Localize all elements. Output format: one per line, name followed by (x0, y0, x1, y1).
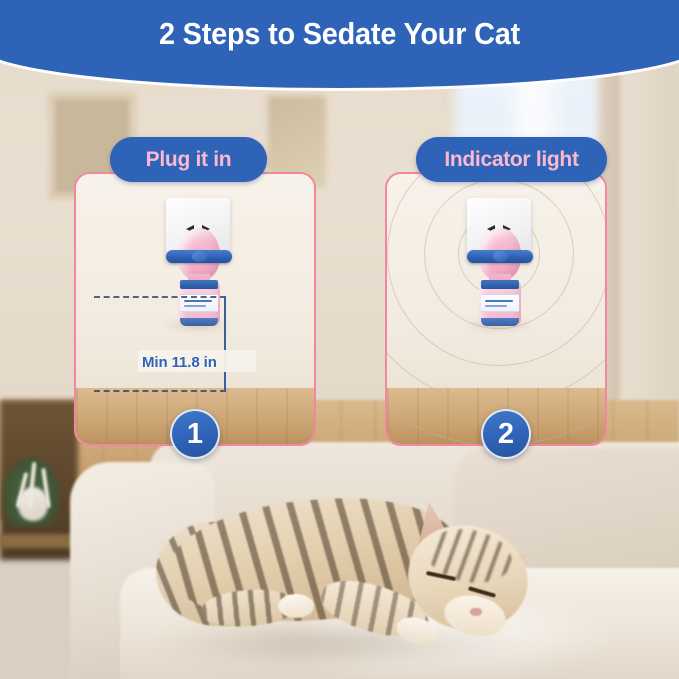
step-2-number: 2 (498, 420, 514, 449)
refill-bottle-label (481, 294, 519, 312)
step-2-title-pill: Indicator light (416, 137, 607, 182)
step-card-2-scene (387, 174, 605, 444)
step-1-number-badge: 1 (170, 409, 220, 459)
step-2-title-label: Indicator light (444, 148, 578, 172)
cat-nose (470, 608, 482, 616)
sleeping-cat (150, 478, 550, 663)
label-text-line (184, 305, 206, 307)
diffuser-blue-band (166, 250, 232, 263)
header-banner: 2 Steps to Sedate Your Cat (0, 0, 679, 88)
page-title: 2 Steps to Sedate Your Cat (5, 16, 674, 52)
step-1-number: 1 (187, 420, 203, 449)
label-text-line (184, 300, 212, 302)
plug-in-diffuser-device (453, 198, 545, 310)
side-shelf-top (0, 534, 80, 548)
measurement-label: Min 11.8 in (142, 354, 217, 371)
diffuser-blue-band (467, 250, 533, 263)
refill-bottle-cap (180, 280, 218, 289)
step-card-1-scene: Min 11.8 in (76, 174, 314, 444)
cat-hind-paw (278, 594, 314, 618)
step-2-number-badge: 2 (481, 409, 531, 459)
measurement-vertical-line (224, 296, 226, 392)
label-text-line (485, 305, 507, 307)
step-card-2 (385, 172, 607, 446)
label-text-line (485, 300, 513, 302)
refill-bottle-cap (481, 280, 519, 289)
plug-in-diffuser-device (152, 198, 244, 310)
measurement-dashed-line-top (94, 296, 226, 298)
step-1-title-pill: Plug it in (110, 137, 267, 182)
refill-bottle-base (180, 318, 218, 326)
refill-bottle-base (481, 318, 519, 326)
step-1-title-label: Plug it in (146, 148, 232, 172)
measurement-dashed-line-bottom (94, 390, 226, 392)
step-card-1: Min 11.8 in (74, 172, 316, 446)
